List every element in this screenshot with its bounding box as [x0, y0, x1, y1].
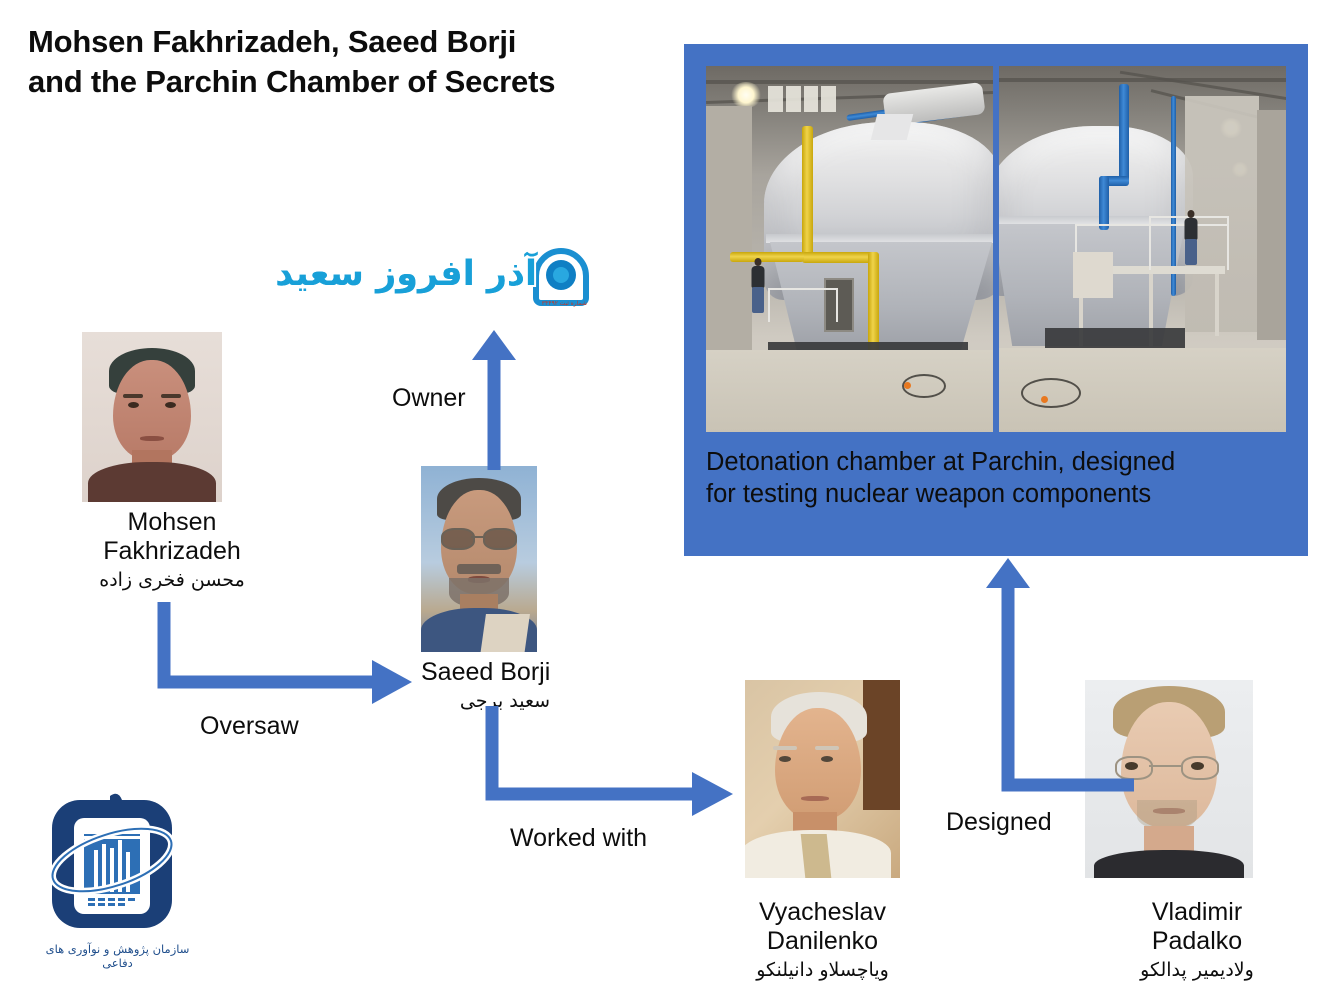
- arrow-worked-with: [478, 700, 736, 820]
- cable-plug: [1041, 396, 1048, 403]
- coiled-cable: [1021, 378, 1081, 408]
- ceiling-beam: [999, 78, 1286, 82]
- glasses-left-lens: [441, 528, 475, 550]
- platform-leg: [1215, 274, 1219, 336]
- necktie: [801, 834, 832, 878]
- glasses-right-lens: [483, 528, 517, 550]
- edge-label-oversaw: Oversaw: [200, 712, 299, 741]
- edge-label-worked-with: Worked with: [510, 824, 647, 853]
- safety-railing: [768, 288, 838, 322]
- name-fa: ویاچسلاو دانیلنکو: [700, 956, 945, 985]
- vessel-band: [766, 234, 993, 243]
- label-padalko: Vladimir Padalko ولادیمیر پدالکو: [1082, 898, 1312, 985]
- collar: [480, 614, 530, 652]
- chamber-caption: Detonation chamber at Parchin, designed …: [706, 446, 1290, 510]
- hall-windows: [768, 86, 836, 112]
- portrait-borji: [421, 466, 537, 652]
- arrow-owner: [468, 330, 520, 470]
- azar-company-name: آذر افروز سعید: [275, 254, 537, 294]
- eye-left: [128, 402, 139, 408]
- chamber-photo-left: [706, 66, 993, 432]
- ceiling-lamp: [730, 82, 762, 108]
- name-fa: ولادیمیر پدالکو: [1082, 956, 1312, 985]
- vessel-nozzle: [871, 114, 913, 140]
- arrow-oversaw: [150, 596, 415, 706]
- eye-right: [165, 402, 176, 408]
- blue-pipe-drop: [1099, 176, 1109, 230]
- eye-right: [821, 756, 833, 762]
- mouth: [801, 796, 829, 801]
- chamber-caption-line-2: for testing nuclear weapon components: [706, 478, 1290, 510]
- portrait-fakhrizadeh: [82, 332, 222, 502]
- shoulders: [1094, 850, 1244, 878]
- spnd-caption: سازمان پژوهش و نوآوری های دفاعی: [30, 942, 205, 970]
- chamber-photo-pair: [706, 66, 1286, 432]
- face: [113, 360, 191, 460]
- name-en-line-1: Mohsen: [42, 508, 302, 537]
- edge-label-designed: Designed: [946, 808, 1052, 837]
- page-title: Mohsen Fakhrizadeh, Saeed Borji and the …: [28, 22, 688, 103]
- chamber-photo-right: [999, 66, 1286, 432]
- furniture-background: [863, 680, 900, 810]
- worker-person: [1181, 210, 1201, 268]
- eyebrow-left: [773, 746, 797, 750]
- label-danilenko: Vyacheslav Danilenko ویاچسلاو دانیلنکو: [700, 898, 945, 985]
- worker-person: [748, 258, 768, 316]
- cable-plug: [904, 382, 911, 389]
- azar-registration-number: شماره ثبت ۳۴۴۹۲: [542, 300, 587, 307]
- eyebrow-left: [123, 394, 143, 398]
- name-en-line-2: Fakhrizadeh: [42, 537, 302, 566]
- side-wall: [1257, 110, 1286, 340]
- azar-afrooz-saeed-logo: آذر افروز سعید آذر افروز سعید شماره ثبت …: [360, 248, 595, 318]
- eye-right: [1191, 762, 1204, 770]
- hall-wall: [706, 106, 752, 356]
- face: [775, 708, 861, 820]
- name-en-line-1: Vyacheslav: [700, 898, 945, 927]
- name-fa: محسن فخری زاده: [42, 566, 302, 595]
- yellow-gas-pipe-vertical: [802, 126, 813, 258]
- spnd-logo: سازمان پژوهش و نوآوری های دفاعی: [30, 790, 205, 970]
- page-title-line-1: Mohsen Fakhrizadeh, Saeed Borji: [28, 22, 688, 62]
- spnd-badge-icon: [30, 790, 205, 942]
- name-en-line-1: Saeed Borji: [421, 658, 625, 687]
- infographic-canvas: Mohsen Fakhrizadeh, Saeed Borji and the …: [0, 0, 1344, 1008]
- edge-label-owner: Owner: [392, 384, 466, 413]
- page-title-line-2: and the Parchin Chamber of Secrets: [28, 62, 688, 102]
- chamber-panel: Detonation chamber at Parchin, designed …: [684, 44, 1308, 556]
- blue-pipe-vertical: [1119, 84, 1129, 184]
- neck: [1144, 826, 1194, 852]
- glasses-bridge: [1149, 765, 1181, 767]
- eyebrow-right: [161, 394, 181, 398]
- name-en-line-2: Danilenko: [700, 927, 945, 956]
- hall-floor: [706, 350, 993, 432]
- name-en-line-2: Padalko: [1082, 927, 1312, 956]
- equipment-box: [1073, 252, 1113, 298]
- mouth: [140, 436, 164, 441]
- yellow-gas-pipe-horizontal: [802, 252, 878, 263]
- arrow-designed: [920, 552, 1140, 792]
- label-fakhrizadeh: Mohsen Fakhrizadeh محسن فخری زاده: [42, 508, 302, 595]
- shoulders: [88, 462, 216, 502]
- eye-left: [779, 756, 791, 762]
- eyebrow-right: [815, 746, 839, 750]
- portrait-danilenko: [745, 680, 900, 878]
- glasses-bridge: [471, 536, 483, 538]
- name-en-line-1: Vladimir: [1082, 898, 1312, 927]
- moustache: [457, 564, 501, 574]
- chamber-caption-line-1: Detonation chamber at Parchin, designed: [706, 446, 1290, 478]
